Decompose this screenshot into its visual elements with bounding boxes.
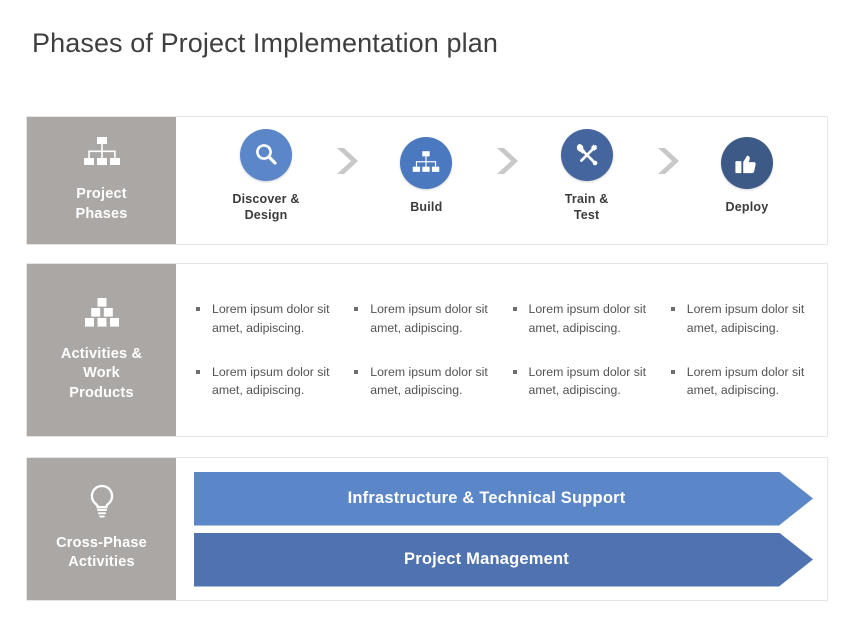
stacked-blocks-icon bbox=[80, 293, 124, 333]
tools-icon bbox=[573, 141, 601, 169]
bullet-icon bbox=[354, 307, 358, 311]
bullet-text: Lorem ipsum dolor sit amet, adipiscing. bbox=[212, 363, 330, 400]
label-line: Activities & bbox=[61, 345, 142, 364]
bullet-text: Lorem ipsum dolor sit amet, adipiscing. bbox=[370, 300, 488, 337]
label-line: Project bbox=[76, 185, 128, 204]
cross-phase-label-box: Cross-Phase Activities bbox=[27, 458, 176, 600]
cross-phase-activities-row: Cross-Phase Activities Infrastructure & … bbox=[26, 457, 828, 601]
bullet-text: Lorem ipsum dolor sit amet, adipiscing. bbox=[370, 363, 488, 400]
phase-build[interactable]: Build bbox=[370, 137, 482, 216]
phase-icon-circle bbox=[400, 137, 452, 189]
phase-label-line: Deploy bbox=[726, 200, 769, 216]
project-phases-label: Project Phases bbox=[76, 185, 128, 223]
project-phases-label-box: Project Phases bbox=[27, 117, 176, 244]
list-item: Lorem ipsum dolor sit amet, adipiscing. bbox=[503, 300, 661, 337]
list-item: Lorem ipsum dolor sit amet, adipiscing. bbox=[344, 363, 502, 400]
phase-label-line: Design bbox=[232, 208, 299, 224]
org-chart-icon bbox=[80, 133, 124, 173]
phase-label: Deploy bbox=[726, 200, 769, 216]
phase-deploy[interactable]: Deploy bbox=[691, 137, 803, 216]
phase-label-line: Train & bbox=[565, 192, 609, 208]
bullet-text: Lorem ipsum dolor sit amet, adipiscing. bbox=[212, 300, 330, 337]
chevron-right-icon bbox=[654, 146, 680, 181]
list-item: Lorem ipsum dolor sit amet, adipiscing. bbox=[661, 300, 819, 337]
bullet-icon bbox=[354, 370, 358, 374]
activities-label: Activities & Work Products bbox=[61, 345, 142, 402]
phase-label: Discover & Design bbox=[232, 192, 299, 223]
bullet-text: Lorem ipsum dolor sit amet, adipiscing. bbox=[529, 363, 647, 400]
bullet-icon bbox=[196, 307, 200, 311]
project-phases-row: Project Phases Discover & Design bbox=[26, 116, 828, 245]
phase-icon-circle bbox=[240, 129, 292, 181]
bullet-icon bbox=[671, 370, 675, 374]
bullet-icon bbox=[196, 370, 200, 374]
activities-bullets: Lorem ipsum dolor sit amet, adipiscing. … bbox=[176, 264, 827, 436]
phase-label-line: Discover & bbox=[232, 192, 299, 208]
phase-label-line: Build bbox=[410, 200, 442, 216]
thumbs-up-icon bbox=[733, 150, 760, 177]
chevron-right-icon bbox=[493, 146, 519, 181]
cross-phase-label: Cross-Phase Activities bbox=[56, 534, 147, 572]
phase-label: Train & Test bbox=[565, 192, 609, 223]
phase-label: Build bbox=[410, 200, 442, 216]
list-item: Lorem ipsum dolor sit amet, adipiscing. bbox=[661, 363, 819, 400]
bullet-text: Lorem ipsum dolor sit amet, adipiscing. bbox=[687, 300, 805, 337]
page-title: Phases of Project Implementation plan bbox=[32, 28, 498, 59]
label-line: Products bbox=[61, 384, 142, 403]
activities-label-box: Activities & Work Products bbox=[27, 264, 176, 436]
activities-work-products-row: Activities & Work Products Lorem ipsum d… bbox=[26, 263, 828, 437]
bullet-row: Lorem ipsum dolor sit amet, adipiscing. … bbox=[186, 300, 819, 337]
bullet-icon bbox=[513, 307, 517, 311]
bullet-text: Lorem ipsum dolor sit amet, adipiscing. bbox=[529, 300, 647, 337]
banner-label: Project Management bbox=[404, 550, 569, 569]
banner-label: Infrastructure & Technical Support bbox=[348, 489, 626, 508]
phase-label-line: Test bbox=[565, 208, 609, 224]
bullet-row: Lorem ipsum dolor sit amet, adipiscing. … bbox=[186, 363, 819, 400]
banner-infrastructure-technical-support[interactable]: Infrastructure & Technical Support bbox=[194, 472, 813, 526]
list-item: Lorem ipsum dolor sit amet, adipiscing. bbox=[344, 300, 502, 337]
phases-list: Discover & Design bbox=[176, 117, 827, 244]
label-line: Cross-Phase bbox=[56, 534, 147, 553]
bullet-text: Lorem ipsum dolor sit amet, adipiscing. bbox=[687, 363, 805, 400]
cross-phase-banners: Infrastructure & Technical Support Proje… bbox=[176, 458, 827, 600]
phase-icon-circle bbox=[561, 129, 613, 181]
list-item: Lorem ipsum dolor sit amet, adipiscing. bbox=[186, 363, 344, 400]
sitemap-icon bbox=[412, 150, 440, 176]
phase-icon-circle bbox=[721, 137, 773, 189]
label-line: Work bbox=[61, 364, 142, 383]
label-line: Activities bbox=[56, 553, 147, 572]
chevron-right-icon bbox=[333, 146, 359, 181]
label-line: Phases bbox=[76, 205, 128, 224]
list-item: Lorem ipsum dolor sit amet, adipiscing. bbox=[186, 300, 344, 337]
banner-project-management[interactable]: Project Management bbox=[194, 533, 813, 587]
list-item: Lorem ipsum dolor sit amet, adipiscing. bbox=[503, 363, 661, 400]
lightbulb-icon bbox=[80, 482, 124, 522]
bullet-icon bbox=[513, 370, 517, 374]
phase-discover-design[interactable]: Discover & Design bbox=[210, 129, 322, 223]
magnifier-icon bbox=[252, 141, 280, 169]
bullet-icon bbox=[671, 307, 675, 311]
phase-train-test[interactable]: Train & Test bbox=[531, 129, 643, 223]
